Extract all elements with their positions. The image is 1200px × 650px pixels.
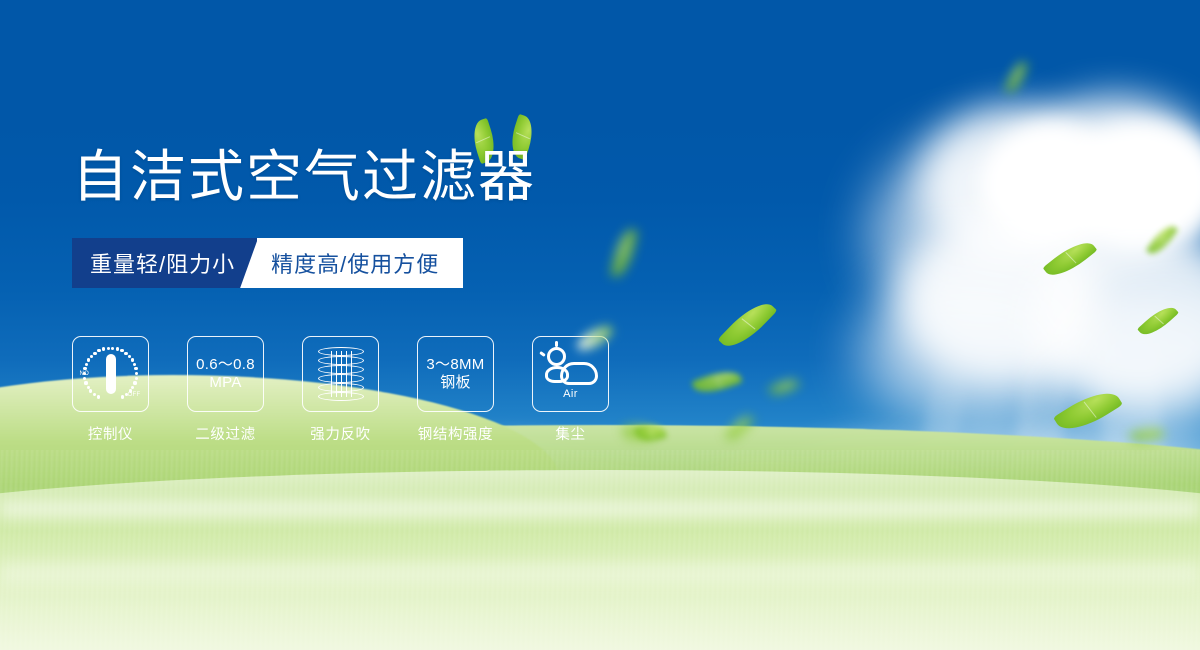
dial-tick — [116, 347, 119, 350]
subtitle-bar: 重量轻/阻力小 精度高/使用方便 — [72, 238, 463, 288]
feature-icon-box: 0.6～0.8 MPA — [187, 336, 264, 412]
dial-tick — [120, 349, 123, 352]
dial-tick — [90, 355, 93, 358]
pressure-line2: MPA — [196, 374, 255, 392]
feature-item-backblow[interactable]: 强力反吹 — [302, 336, 379, 444]
dial-tick — [97, 395, 100, 398]
feature-item-steel[interactable]: 3～8MM 钢板 钢结构强度 — [417, 336, 494, 444]
dial-tick — [131, 386, 134, 389]
sun-icon — [547, 347, 566, 366]
dial-tick — [135, 372, 138, 375]
field-highlight — [0, 556, 1200, 590]
feature-item-control-dial[interactable]: NO OFF 控制仪 — [72, 336, 149, 444]
feature-icon-box: Air — [532, 336, 609, 412]
dial-tick — [85, 363, 88, 366]
air-cloud-icon: Air — [544, 347, 598, 385]
page-title: 自洁式空气过滤器 — [72, 147, 536, 206]
cloud-large — [560, 362, 598, 385]
dial-tick — [84, 381, 87, 384]
dial-tick — [93, 393, 96, 396]
feature-item-pressure[interactable]: 0.6～0.8 MPA 二级过滤 — [187, 336, 264, 444]
dial-tick — [97, 349, 100, 352]
dial-tick — [133, 381, 136, 384]
feature-label: 强力反吹 — [290, 423, 391, 444]
feature-icon-box — [302, 336, 379, 412]
dial-tick — [121, 395, 124, 398]
feature-label: 集尘 — [520, 423, 621, 444]
dial-knob — [106, 354, 116, 394]
steel-line2: 钢板 — [426, 374, 484, 392]
dial-tick — [133, 363, 136, 366]
dial-tick — [87, 358, 90, 361]
pressure-text-icon: 0.6～0.8 MPA — [196, 356, 255, 391]
dial-tick — [89, 389, 92, 392]
dial-tick — [83, 377, 86, 380]
feature-label: 钢结构强度 — [405, 423, 506, 444]
subtitle-primary: 重量轻/阻力小 — [72, 238, 257, 288]
dial-tick — [128, 355, 131, 358]
dial-tick — [83, 367, 86, 370]
steel-line1: 3～8MM — [426, 356, 484, 374]
dial-tick — [107, 347, 110, 350]
feature-label: 控制仪 — [60, 423, 161, 444]
pressure-line1: 0.6～0.8 — [196, 356, 255, 374]
dial-tick — [134, 367, 137, 370]
dial-tick — [87, 386, 90, 389]
dial-tick — [131, 358, 134, 361]
dial-tick — [102, 347, 105, 350]
subtitle-secondary: 精度高/使用方便 — [257, 238, 463, 288]
dial-off-label: OFF — [128, 392, 141, 398]
sun-ray — [555, 341, 558, 347]
air-label: Air — [544, 388, 598, 400]
product-banner: 自洁式空气过滤器 重量轻/阻力小 精度高/使用方便 NO OFF 控制仪 0.6… — [0, 0, 1200, 650]
feature-icon-box: 3～8MM 钢板 — [417, 336, 494, 412]
dial-tick — [124, 352, 127, 355]
control-dial-icon: NO OFF — [82, 345, 140, 403]
dial-tick — [135, 377, 138, 380]
dial-tick — [93, 352, 96, 355]
feature-icon-box: NO OFF — [72, 336, 149, 412]
sun-ray — [539, 351, 546, 357]
steel-thickness-text-icon: 3～8MM 钢板 — [426, 356, 484, 391]
feature-item-dust-collection[interactable]: Air 集尘 — [532, 336, 609, 444]
feature-label: 二级过滤 — [175, 423, 276, 444]
dial-tick — [129, 389, 132, 392]
filter-coil-icon — [318, 347, 364, 401]
field-highlight — [0, 496, 1200, 522]
dial-tick — [111, 347, 114, 350]
feature-list: NO OFF 控制仪 0.6～0.8 MPA 二级过滤 — [72, 336, 609, 444]
